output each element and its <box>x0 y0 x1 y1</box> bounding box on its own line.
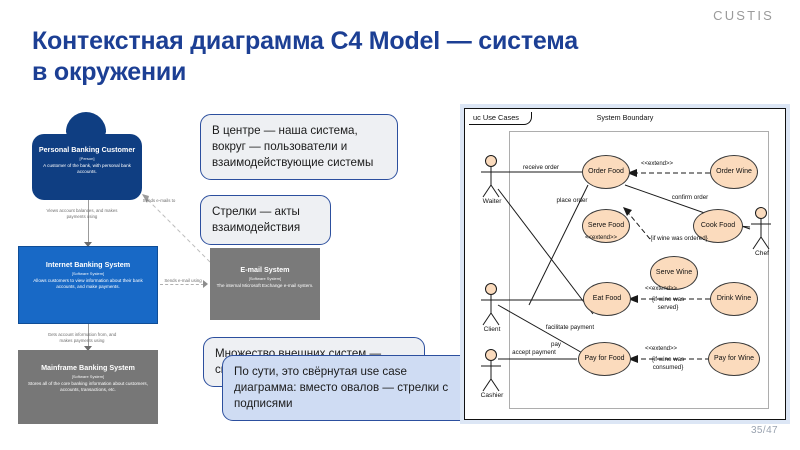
uc-case-pay-for-wine: Pay for Wine <box>708 342 760 376</box>
slide-page-number: 35/47 <box>751 425 778 436</box>
uc-guard-wine-consumed: {if wine was consumed} <box>641 356 695 372</box>
slide: CUSTIS Контекстная диаграмма C4 Model — … <box>0 0 800 450</box>
uc-actor-waiter: Waiter <box>471 198 513 205</box>
c4-mainframe-system-name: Mainframe Banking System <box>23 364 153 373</box>
uc-stereotype-extend-1: <<extend>> <box>641 161 673 167</box>
uc-case-serve-wine: Serve Wine <box>650 256 698 290</box>
c4-main-system-description: Allows customers to view information abo… <box>24 278 152 290</box>
uc-label-facilitate-payment: facilitate payment <box>529 324 611 332</box>
uc-case-eat-food: Eat Food <box>583 282 631 316</box>
uc-actor-chef: Chef <box>741 250 783 257</box>
uc-stereotype-extend-3: <<extend>> <box>645 286 677 292</box>
c4-relationship-email-to-customer: Sends e-mails to <box>124 198 194 204</box>
c4-person-stereotype: [Person] <box>37 156 137 161</box>
uc-label-confirm-order: confirm order <box>655 194 725 202</box>
c4-mainframe-system-description: Stores all of the core banking informati… <box>23 381 153 393</box>
uc-stereotype-extend-2: <<extend>> <box>585 235 617 241</box>
c4-relationship-system-to-email: Sends e-mail using <box>154 278 212 284</box>
uc-case-order-food: Order Food <box>582 155 630 189</box>
c4-mainframe-system-stereotype: [Software System] <box>23 374 153 379</box>
c4-email-system-description: The internal Microsoft Exchange e-mail s… <box>215 283 315 289</box>
c4-main-system-stereotype: [Software System] <box>24 271 152 276</box>
c4-relationship-customer-to-system: Views account balances, and makes paymen… <box>46 208 118 221</box>
c4-person-node: Personal Banking Customer [Person] A cus… <box>32 134 142 200</box>
c4-edge-customer-system <box>88 200 89 244</box>
callout-center-system: В центре — наша система, вокруг — пользо… <box>200 114 398 180</box>
uc-label-pay: pay <box>543 341 569 349</box>
uc-label-place-order: place order <box>539 197 605 205</box>
c4-email-system-name: E-mail System <box>215 266 315 275</box>
c4-context-diagram: Personal Banking Customer [Person] A cus… <box>14 112 194 412</box>
callout-collapsed-usecase: По сути, это свёрнутая use case диаграмм… <box>222 355 473 421</box>
c4-email-system-node: E-mail System [Software System] The inte… <box>210 248 320 320</box>
uc-actor-cashier: Cashier <box>469 392 515 399</box>
uc-actor-client: Client <box>471 326 513 333</box>
c4-main-system-name: Internet Banking System <box>24 261 152 270</box>
uc-guard-wine-served: {if wine was served} <box>645 296 691 312</box>
uc-case-pay-for-food: Pay for Food <box>578 342 631 376</box>
page-title: Контекстная диаграмма C4 Model — система… <box>32 26 592 87</box>
uc-stereotype-extend-4: <<extend>> <box>645 346 677 352</box>
custis-logo: CUSTIS <box>713 8 774 23</box>
uc-case-order-wine: Order Wine <box>710 155 758 189</box>
c4-email-system-stereotype: [Software System] <box>215 276 315 281</box>
c4-main-system-node: Internet Banking System [Software System… <box>18 246 158 324</box>
uc-case-drink-wine: Drink Wine <box>710 282 758 316</box>
c4-person-name: Personal Banking Customer <box>37 146 137 155</box>
c4-mainframe-system-node: Mainframe Banking System [Software Syste… <box>18 350 158 424</box>
uc-label-accept-payment: accept payment <box>503 349 565 357</box>
c4-person-description: A customer of the bank, with personal ba… <box>37 163 137 175</box>
use-case-diagram: uc Use Cases System Boundary <box>464 108 786 420</box>
c4-relationship-system-to-mainframe: Gets account information from, and makes… <box>46 332 118 345</box>
callout-arrows-interactions: Стрелки — акты взаимодействия <box>200 195 331 245</box>
uc-guard-wine-ordered: {if wine was ordered} <box>631 235 727 243</box>
uc-label-receive-order: receive order <box>505 164 577 172</box>
